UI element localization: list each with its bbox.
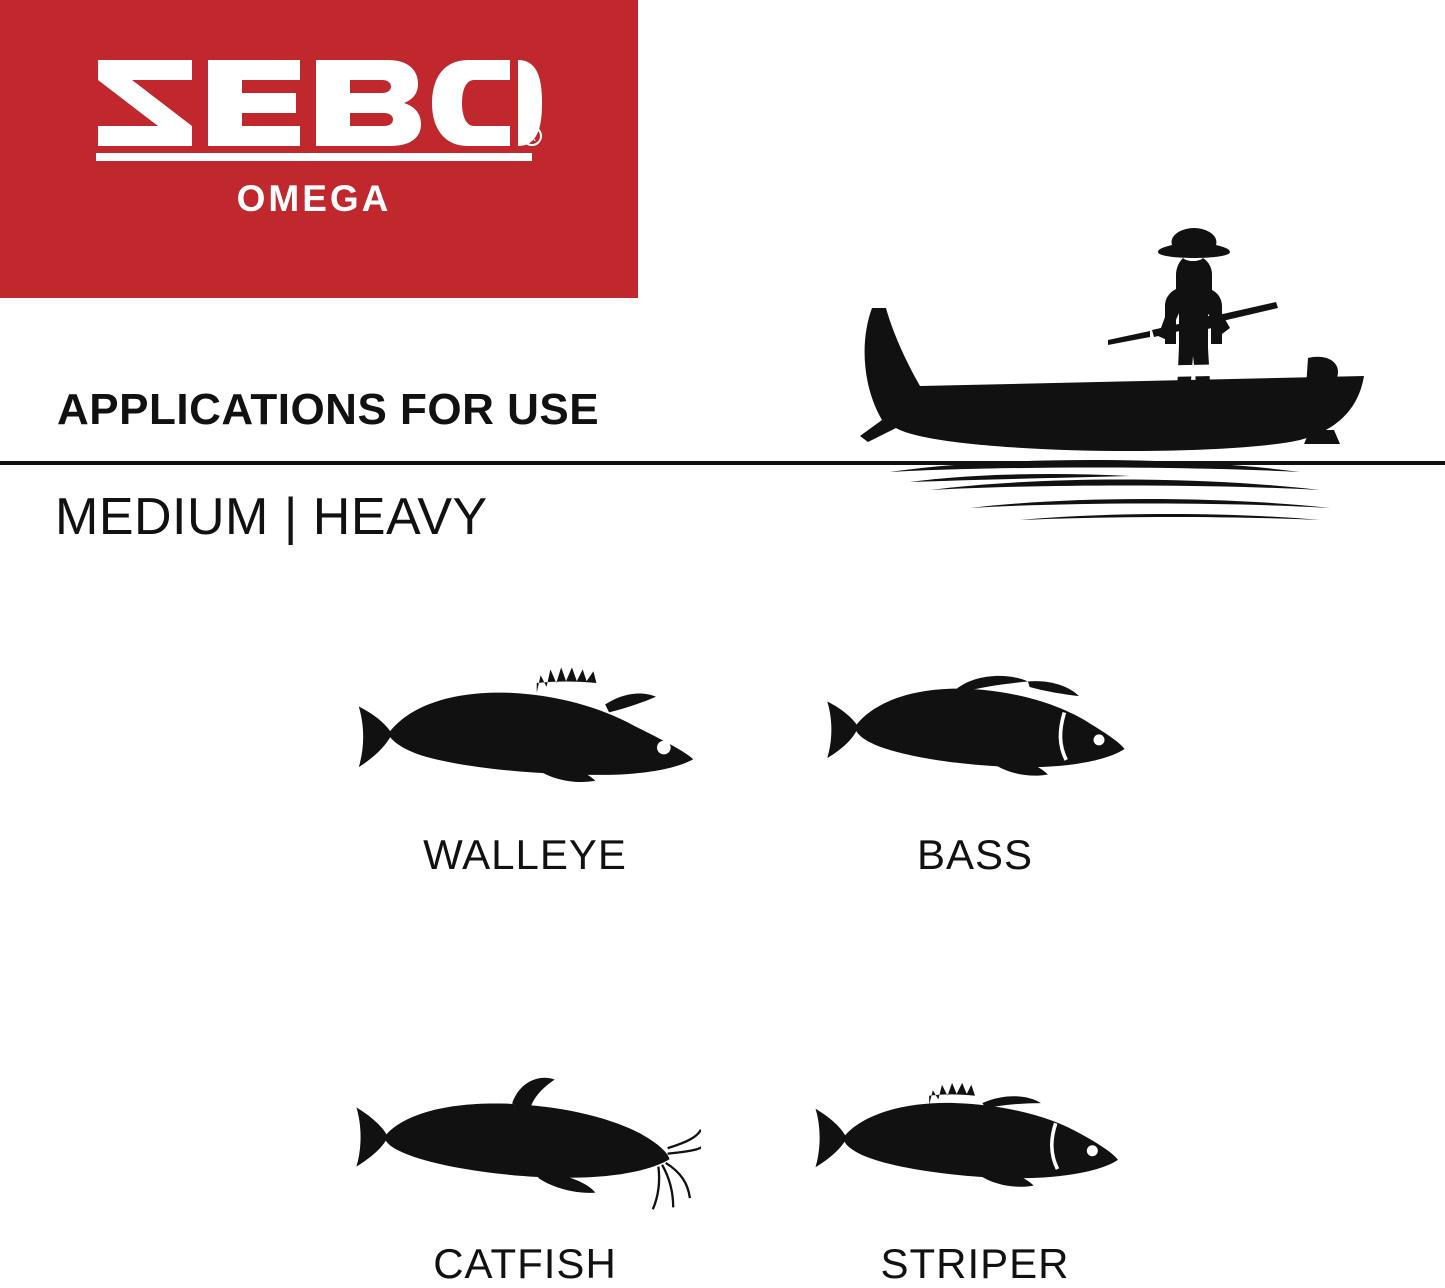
catfish-icon — [349, 1039, 701, 1234]
page-title: APPLICATIONS FOR USE — [57, 385, 599, 435]
row-spacer — [300, 879, 1200, 1039]
section-divider — [0, 461, 1445, 465]
registered-mark: R — [528, 130, 537, 144]
fish-species-grid: WALLEYE — [300, 630, 1200, 1288]
brand-block: R OMEGA — [0, 0, 638, 298]
fish-item-bass: BASS — [750, 630, 1200, 879]
fish-item-catfish: CATFISH — [300, 1039, 750, 1288]
fish-item-walleye: WALLEYE — [300, 630, 750, 879]
fish-label: BASS — [917, 831, 1033, 879]
bass-icon — [820, 630, 1130, 825]
fish-label: STRIPER — [880, 1240, 1069, 1288]
fish-row: WALLEYE — [300, 630, 1200, 879]
fish-row: CATFISH — [300, 1039, 1200, 1288]
fish-item-striper: STRIPER — [750, 1039, 1200, 1288]
brand-series-label: OMEGA — [96, 178, 532, 220]
fish-label: WALLEYE — [423, 831, 627, 879]
striper-icon — [810, 1039, 1140, 1234]
angler-boat-illustration — [800, 190, 1380, 530]
zebco-wordmark: R — [96, 58, 542, 146]
weight-class-label: MEDIUM | HEAVY — [55, 487, 488, 547]
brand-underline — [96, 153, 532, 161]
walleye-icon — [349, 630, 701, 825]
fish-label: CATFISH — [433, 1240, 617, 1288]
